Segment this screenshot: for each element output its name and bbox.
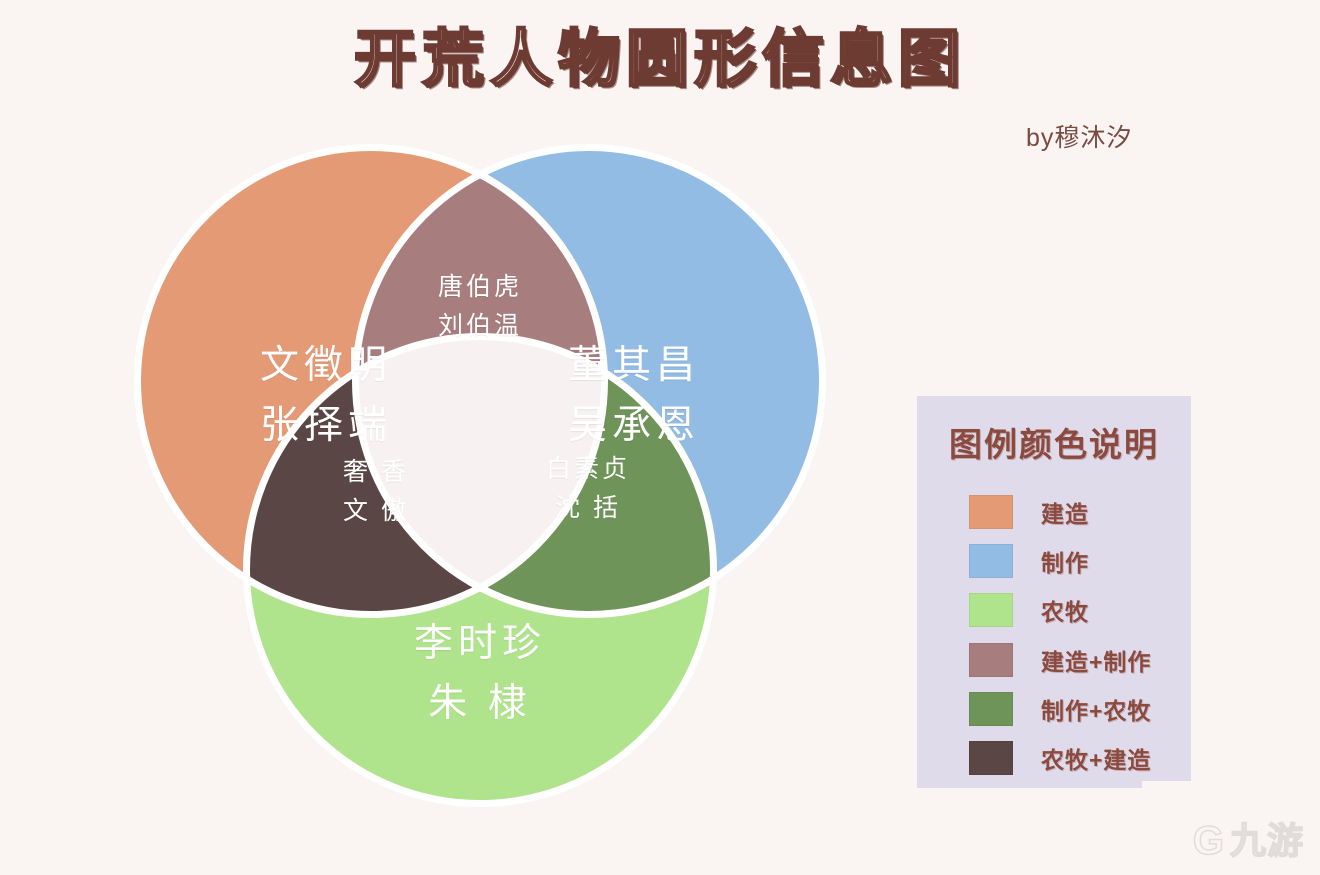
legend-swatch-farm-build [969, 741, 1013, 775]
watermark-label: 九游 [1230, 823, 1304, 859]
legend-panel: 图例颜色说明 建造 制作 农牧 建造+制作 制作+农牧 农牧+建造 [917, 396, 1191, 788]
legend-item-build: 建造 [969, 492, 1191, 532]
legend-label-farm: 农牧 [1041, 593, 1089, 627]
legend-item-craft-farm: 制作+农牧 [969, 689, 1191, 729]
legend-item-craft: 制作 [969, 541, 1191, 581]
watermark-backdrop [1142, 781, 1320, 807]
byline-author: by穆沐汐 [1026, 118, 1132, 154]
legend-label-farm-build: 农牧+建造 [1041, 741, 1151, 775]
page-title: 开荒人物圆形信息图 [0, 26, 1320, 94]
legend-swatch-craft-farm [969, 692, 1013, 726]
legend-label-build: 建造 [1041, 495, 1089, 529]
legend-title: 图例颜色说明 [917, 418, 1191, 466]
site-watermark: G 九游 [1193, 821, 1304, 861]
legend-item-farm: 农牧 [969, 590, 1191, 630]
venn-svg [118, 128, 842, 852]
legend-label-craft: 制作 [1041, 544, 1089, 578]
jiuyou-logo-icon: G [1193, 821, 1224, 861]
legend-item-farm-build: 农牧+建造 [969, 738, 1191, 778]
legend-swatch-build [969, 495, 1013, 529]
legend-swatch-farm [969, 593, 1013, 627]
legend-swatch-craft [969, 544, 1013, 578]
legend-swatch-build-craft [969, 643, 1013, 677]
legend-list: 建造 制作 农牧 建造+制作 制作+农牧 农牧+建造 [917, 492, 1191, 778]
venn-diagram: 文徵明 张择端 董其昌 吴承恩 李时珍 朱 棣 唐伯虎 刘伯温 白素贞 沈 括 … [118, 128, 842, 852]
legend-item-build-craft: 建造+制作 [969, 640, 1191, 680]
legend-label-craft-farm: 制作+农牧 [1041, 692, 1151, 726]
legend-label-build-craft: 建造+制作 [1041, 643, 1151, 677]
